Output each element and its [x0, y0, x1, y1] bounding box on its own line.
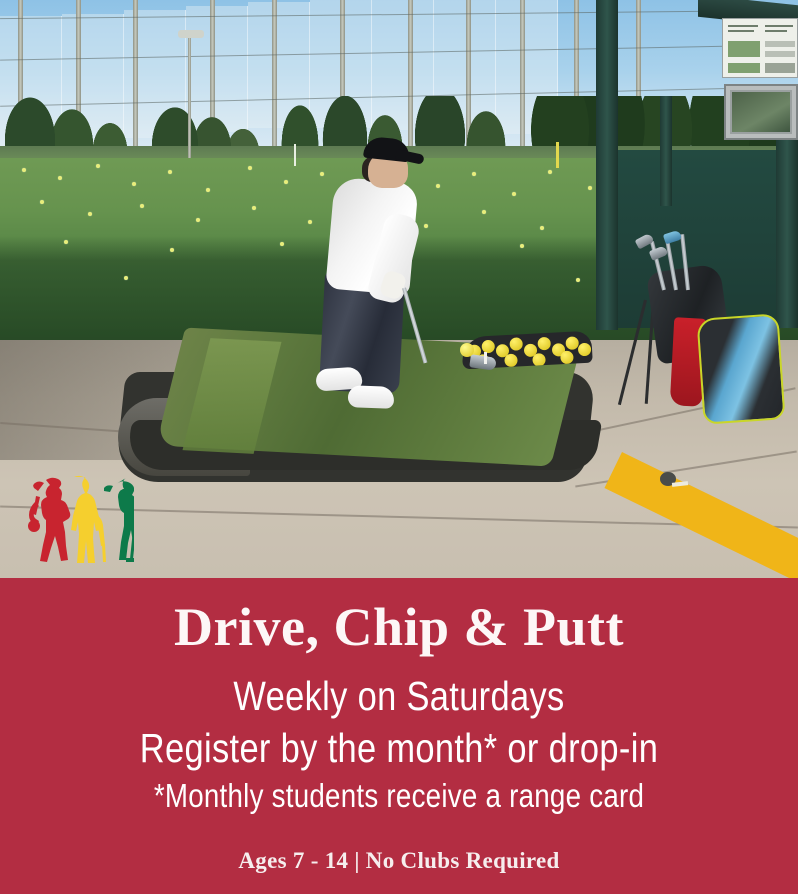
kiosk-info-sign [722, 18, 798, 78]
poster-title: Drive, Chip & Putt [0, 578, 798, 654]
silhouette-chipper [71, 476, 106, 563]
yardage-marker [294, 144, 296, 166]
hero-photo [0, 0, 798, 578]
three-golfer-silhouettes-logo [16, 474, 134, 566]
light-pole [188, 32, 191, 160]
range-card-note: *Monthly students receive a range card [64, 779, 734, 813]
silhouette-putter [104, 478, 134, 562]
poster: Drive, Chip & Putt Weekly on Saturdays R… [0, 0, 798, 894]
info-banner: Drive, Chip & Putt Weekly on Saturdays R… [0, 578, 798, 894]
schedule-line: Weekly on Saturdays [64, 676, 734, 718]
bay-post [660, 96, 672, 206]
bay-post [776, 128, 798, 328]
eligibility-footnote: Ages 7 - 14 | No Clubs Required [0, 848, 798, 874]
yardage-marker [556, 142, 559, 168]
light-fixture [178, 30, 204, 38]
golf-bag [696, 313, 785, 424]
silhouette-driver [28, 478, 70, 562]
kiosk-touchscreen[interactable] [730, 90, 792, 134]
golfer-shoe [348, 385, 395, 409]
bay-post [596, 0, 618, 330]
tee [484, 352, 487, 364]
registration-line: Register by the month* or drop-in [64, 728, 734, 770]
golf-ball [460, 343, 474, 357]
